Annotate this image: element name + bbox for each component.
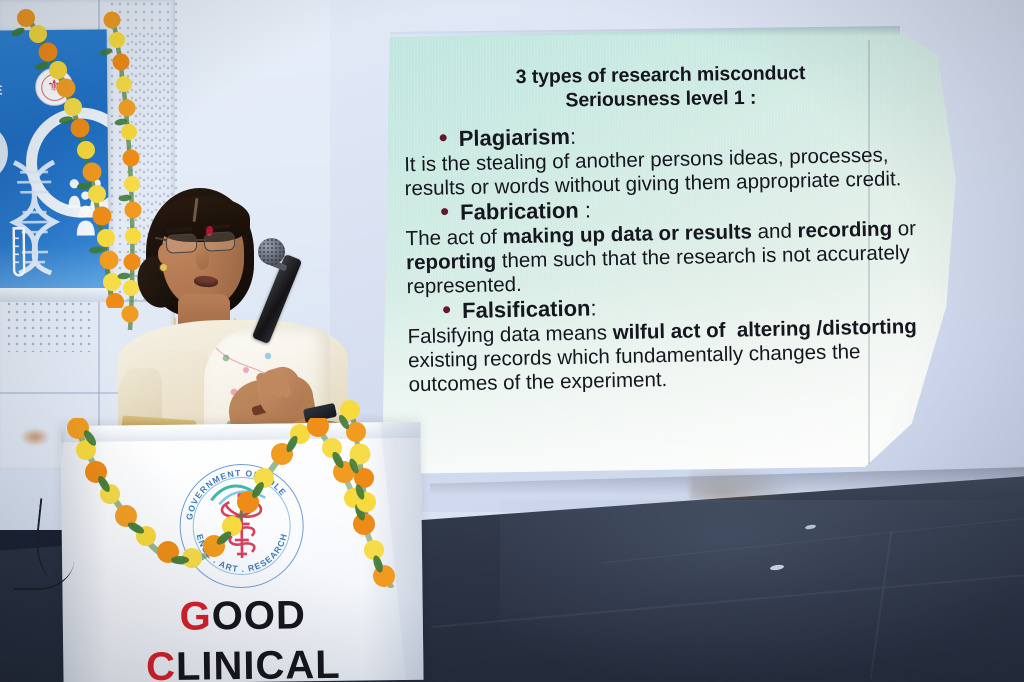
slide-title: 3 types of research misconduct Seriousne… xyxy=(470,61,851,114)
lens xyxy=(204,231,236,252)
banner-text-good: GOOD xyxy=(63,594,423,638)
bullet-dot-icon xyxy=(440,134,447,141)
bullet-heading-text: Fabrication xyxy=(460,198,579,225)
marigold-cluster xyxy=(326,398,406,518)
slide-body: Plagiarism: It is the stealing of anothe… xyxy=(403,118,956,399)
bullet-dot-icon xyxy=(443,306,450,313)
poster-text-fragment: GE xyxy=(0,82,3,97)
nose xyxy=(196,248,209,270)
bullet-heading-suffix: : xyxy=(570,124,577,149)
banner-rest-letters: OOD xyxy=(212,593,307,638)
projection-screen: 3 types of research misconduct Seriousne… xyxy=(378,26,958,478)
banner-rest-letters: LINICAL xyxy=(176,643,341,682)
bullet-heading-suffix: : xyxy=(590,295,597,320)
banner-accent-letter: G xyxy=(179,594,212,638)
bullet-heading-text: Plagiarism xyxy=(458,124,570,151)
lens xyxy=(166,233,198,254)
banner-accent-letter: C xyxy=(146,645,176,682)
microphone-head-icon xyxy=(258,238,285,265)
photo-scene: ⚜ GE xyxy=(0,0,1024,682)
bullet-heading-suffix: : xyxy=(578,197,591,222)
bullet-dot-icon xyxy=(441,208,448,215)
glasses-bridge xyxy=(197,239,206,241)
bullet-heading-text: Falsification xyxy=(462,295,591,322)
floor-light-reflection xyxy=(500,500,1024,682)
slide-content: 3 types of research misconduct Seriousne… xyxy=(374,20,963,484)
banner-text-clinical: CLINICAL xyxy=(63,644,423,682)
earring xyxy=(160,264,167,271)
wall-scuff xyxy=(20,428,50,446)
